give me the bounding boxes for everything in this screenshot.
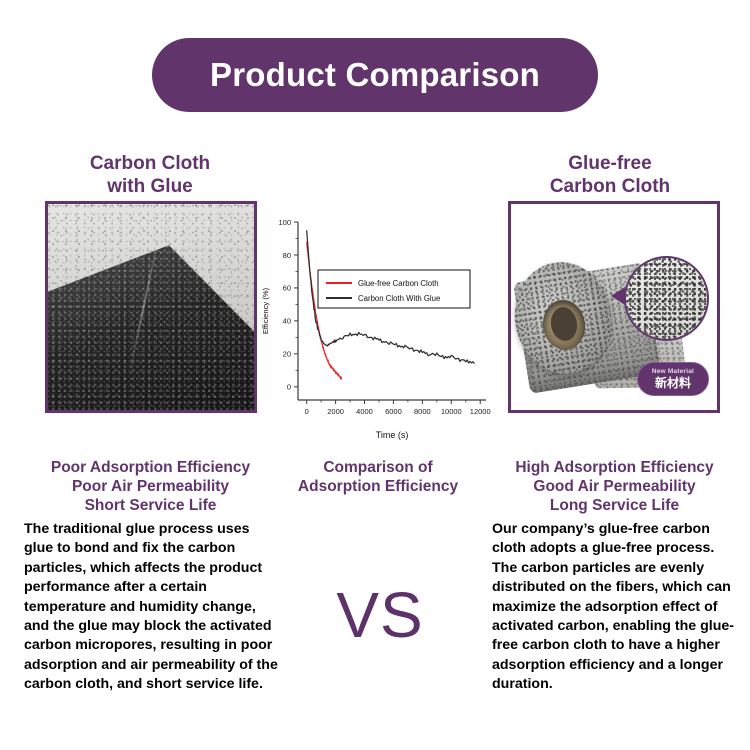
svg-text:2000: 2000 — [327, 407, 344, 416]
new-material-badge: New Material 新材料 — [637, 362, 709, 396]
svg-text:4000: 4000 — [356, 407, 373, 416]
right-column-title: Glue-freeCarbon Cloth — [490, 152, 730, 198]
glue-cloth-photo — [48, 204, 254, 410]
svg-text:Glue-free Carbon Cloth: Glue-free Carbon Cloth — [358, 279, 439, 288]
fiber-zoom-callout — [624, 256, 709, 341]
left-column-title: Carbon Clothwith Glue — [30, 152, 270, 198]
header-banner: Product Comparison — [152, 38, 598, 112]
svg-text:Efficiency (%): Efficiency (%) — [261, 287, 270, 334]
glue-free-carbon-cloth-image: New Material 新材料 — [508, 201, 720, 413]
chart-caption: Comparison ofAdsorption Efficiency — [283, 458, 473, 496]
svg-text:10000: 10000 — [441, 407, 462, 416]
svg-text:20: 20 — [283, 350, 291, 359]
left-description-paragraph: The traditional glue process uses glue t… — [24, 520, 282, 695]
right-description-paragraph: Our company’s glue-free carbon cloth ado… — [492, 520, 742, 695]
svg-text:60: 60 — [283, 284, 291, 293]
chart-svg: 020004000600080001000012000020406080100T… — [258, 208, 492, 446]
svg-text:8000: 8000 — [414, 407, 431, 416]
svg-text:40: 40 — [283, 317, 291, 326]
right-feature-list: High Adsorption EfficiencyGood Air Perme… — [482, 458, 747, 515]
page-title: Product Comparison — [210, 56, 540, 94]
versus-label: VS — [300, 578, 460, 652]
svg-text:0: 0 — [305, 407, 309, 416]
glue-free-roll-photo: New Material 新材料 — [511, 204, 717, 410]
magnify-arrow-icon — [611, 287, 625, 305]
svg-text:80: 80 — [283, 251, 291, 260]
badge-english-label: New Material — [652, 369, 694, 376]
svg-text:0: 0 — [287, 383, 291, 392]
svg-text:12000: 12000 — [470, 407, 491, 416]
svg-text:100: 100 — [278, 218, 291, 227]
left-feature-list: Poor Adsorption EfficiencyPoor Air Perme… — [18, 458, 283, 515]
svg-text:6000: 6000 — [385, 407, 402, 416]
svg-text:Carbon Cloth With Glue: Carbon Cloth With Glue — [358, 294, 440, 303]
svg-text:Time (s): Time (s) — [376, 430, 409, 440]
carbon-cloth-with-glue-image — [45, 201, 257, 413]
infographic-page: Product Comparison Carbon Clothwith Glue… — [0, 0, 750, 750]
badge-chinese-label: 新材料 — [655, 377, 691, 389]
fiber-zoom-texture — [626, 258, 707, 339]
adsorption-efficiency-chart: 020004000600080001000012000020406080100T… — [258, 208, 492, 446]
